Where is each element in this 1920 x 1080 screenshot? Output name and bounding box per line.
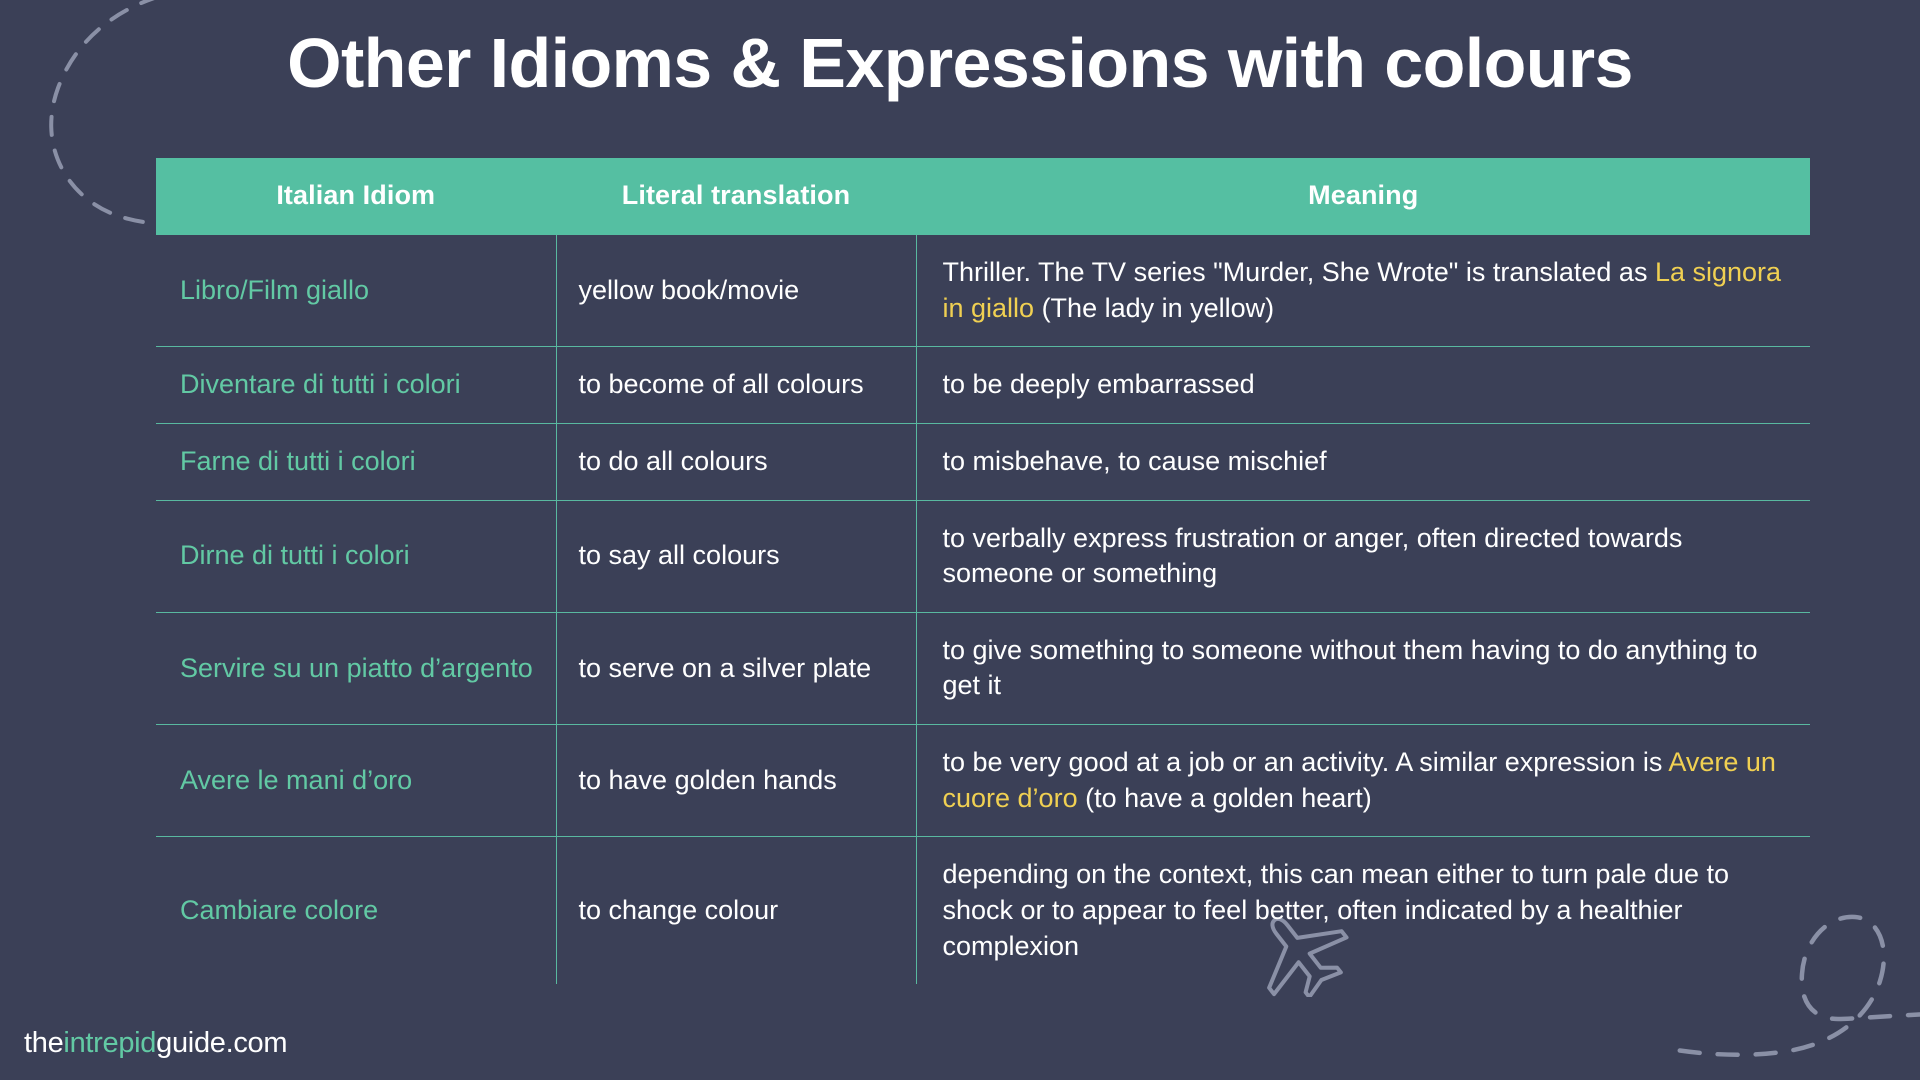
cell-meaning: to verbally express frustration or anger… (916, 500, 1810, 612)
meaning-text: (to have a golden heart) (1078, 783, 1372, 813)
site-logo-mid: intrepid (63, 1027, 156, 1059)
table-row: Libro/Film gialloyellow book/movieThrill… (156, 235, 1810, 347)
page-title: Other Idioms & Expressions with colours (0, 26, 1920, 100)
cell-meaning: to be deeply embarrassed (916, 347, 1810, 424)
table-row: Diventare di tutti i colorito become of … (156, 347, 1810, 424)
cell-literal-translation: to serve on a silver plate (556, 612, 916, 724)
column-header-literal-translation: Literal translation (556, 158, 916, 235)
column-header-meaning: Meaning (916, 158, 1810, 235)
table-row: Dirne di tutti i colorito say all colour… (156, 500, 1810, 612)
table-header: Italian Idiom Literal translation Meanin… (156, 158, 1810, 235)
cell-literal-translation: to become of all colours (556, 347, 916, 424)
cell-literal-translation: to change colour (556, 837, 916, 984)
cell-italian-idiom: Avere le mani d’oro (156, 725, 556, 837)
table-header-row: Italian Idiom Literal translation Meanin… (156, 158, 1810, 235)
cell-meaning: to misbehave, to cause mischief (916, 423, 1810, 500)
column-header-italian-idiom: Italian Idiom (156, 158, 556, 235)
meaning-text: to misbehave, to cause mischief (943, 446, 1327, 476)
cell-literal-translation: to have golden hands (556, 725, 916, 837)
cell-italian-idiom: Diventare di tutti i colori (156, 347, 556, 424)
cell-italian-idiom: Farne di tutti i colori (156, 423, 556, 500)
cell-literal-translation: to do all colours (556, 423, 916, 500)
cell-meaning: depending on the context, this can mean … (916, 837, 1810, 984)
cell-italian-idiom: Dirne di tutti i colori (156, 500, 556, 612)
idioms-table-container: Italian Idiom Literal translation Meanin… (156, 158, 1810, 984)
idioms-table: Italian Idiom Literal translation Meanin… (156, 158, 1810, 984)
meaning-text: to give something to someone without the… (943, 635, 1758, 701)
table-row: Cambiare coloreto change colourdepending… (156, 837, 1810, 984)
table-row: Servire su un piatto d’argentoto serve o… (156, 612, 1810, 724)
meaning-text: Thriller. The TV series "Murder, She Wro… (943, 257, 1655, 287)
cell-meaning: to be very good at a job or an activity.… (916, 725, 1810, 837)
site-logo-prefix: the (24, 1027, 63, 1059)
cell-italian-idiom: Libro/Film giallo (156, 235, 556, 347)
cell-italian-idiom: Cambiare colore (156, 837, 556, 984)
cell-italian-idiom: Servire su un piatto d’argento (156, 612, 556, 724)
meaning-text: depending on the context, this can mean … (943, 859, 1730, 960)
meaning-text: to be very good at a job or an activity.… (943, 747, 1669, 777)
cell-literal-translation: to say all colours (556, 500, 916, 612)
meaning-text: to be deeply embarrassed (943, 369, 1255, 399)
site-logo-suffix: guide.com (156, 1027, 287, 1059)
table-row: Farne di tutti i colorito do all colours… (156, 423, 1810, 500)
meaning-text: to verbally express frustration or anger… (943, 523, 1683, 589)
meaning-text: (The lady in yellow) (1034, 293, 1274, 323)
cell-meaning: Thriller. The TV series "Murder, She Wro… (916, 235, 1810, 347)
cell-literal-translation: yellow book/movie (556, 235, 916, 347)
cell-meaning: to give something to someone without the… (916, 612, 1810, 724)
table-body: Libro/Film gialloyellow book/movieThrill… (156, 235, 1810, 984)
table-row: Avere le mani d’oroto have golden handst… (156, 725, 1810, 837)
site-logo: theintrepidguide.com (24, 1027, 287, 1060)
